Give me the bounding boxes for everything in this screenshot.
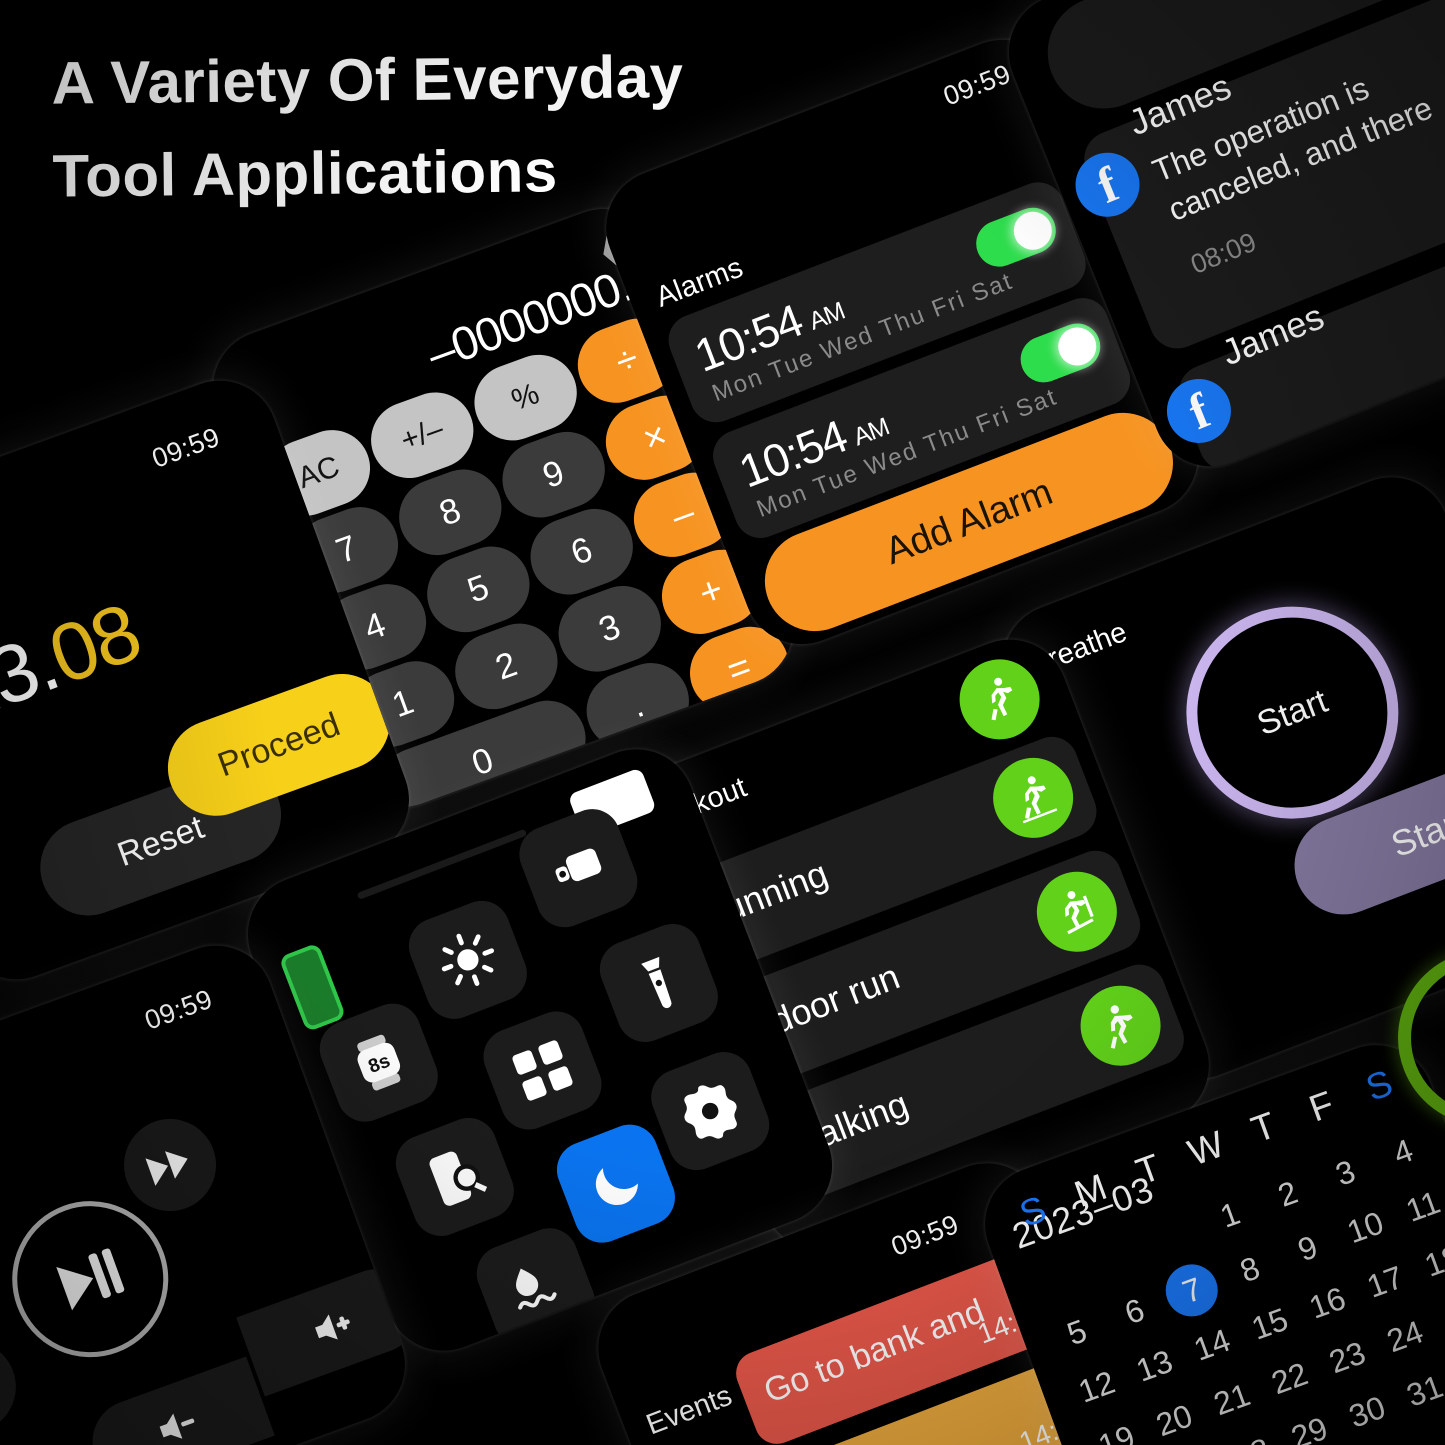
app-title: Events bbox=[642, 1380, 737, 1443]
apps-grid-icon bbox=[505, 1033, 580, 1108]
flashlight-icon bbox=[621, 945, 696, 1020]
flashlight-icon-tile[interactable] bbox=[592, 916, 726, 1050]
alarm-toggle[interactable] bbox=[1014, 317, 1107, 389]
do-not-disturb-moon-icon-tile[interactable] bbox=[549, 1116, 683, 1250]
next-track-button[interactable] bbox=[111, 1106, 229, 1224]
previous-track-button[interactable] bbox=[0, 1328, 29, 1445]
do-not-disturb-moon-icon bbox=[578, 1146, 653, 1221]
airplay-video-icon bbox=[541, 831, 616, 906]
rewind-icon bbox=[0, 1355, 2, 1419]
camera-shutter-icon bbox=[673, 1074, 748, 1149]
status-time: 09:59 bbox=[141, 984, 217, 1037]
status-time: 09:59 bbox=[939, 59, 1015, 113]
fast-forward-icon bbox=[138, 1133, 202, 1197]
volume-down-icon bbox=[148, 1397, 207, 1445]
brightness-icon bbox=[430, 922, 505, 997]
brightness-icon-tile[interactable] bbox=[401, 893, 535, 1027]
volume-up-icon bbox=[304, 1297, 363, 1356]
volume-down-button[interactable] bbox=[81, 1357, 275, 1445]
stopwatch-elapsed: 0:23.08 bbox=[0, 586, 152, 763]
camera-shutter-icon-tile[interactable] bbox=[643, 1044, 777, 1178]
watch-8s-icon: 8s bbox=[341, 1025, 416, 1100]
apps-grid-icon-tile[interactable] bbox=[475, 1003, 609, 1137]
calendar-grid: 1234567891011121314151617181920212223242… bbox=[1018, 1114, 1445, 1445]
play-pause-icon bbox=[43, 1232, 138, 1327]
find-phone-icon-tile[interactable] bbox=[388, 1110, 522, 1244]
notification-time: 08:09 bbox=[1187, 227, 1261, 281]
find-phone-icon bbox=[417, 1139, 492, 1214]
alarm-toggle[interactable] bbox=[969, 201, 1062, 273]
event-title: Go to bank and bbox=[759, 1292, 990, 1412]
poster-canvas: A Variety Of Everyday Tool Applications … bbox=[0, 0, 1445, 1445]
battery-green-icon bbox=[279, 943, 347, 1033]
walker-icon bbox=[1069, 974, 1172, 1077]
water-lock-icon bbox=[498, 1250, 573, 1325]
runner-icon bbox=[981, 746, 1084, 849]
runner-icon bbox=[948, 648, 1051, 751]
treadmill-runner-icon bbox=[1025, 860, 1128, 963]
status-time: 09:59 bbox=[148, 422, 224, 475]
facebook-icon: f bbox=[1157, 369, 1240, 452]
status-time: 09:59 bbox=[887, 1209, 963, 1263]
water-lock-icon-tile[interactable] bbox=[469, 1220, 603, 1354]
facebook-icon: f bbox=[1066, 143, 1149, 226]
